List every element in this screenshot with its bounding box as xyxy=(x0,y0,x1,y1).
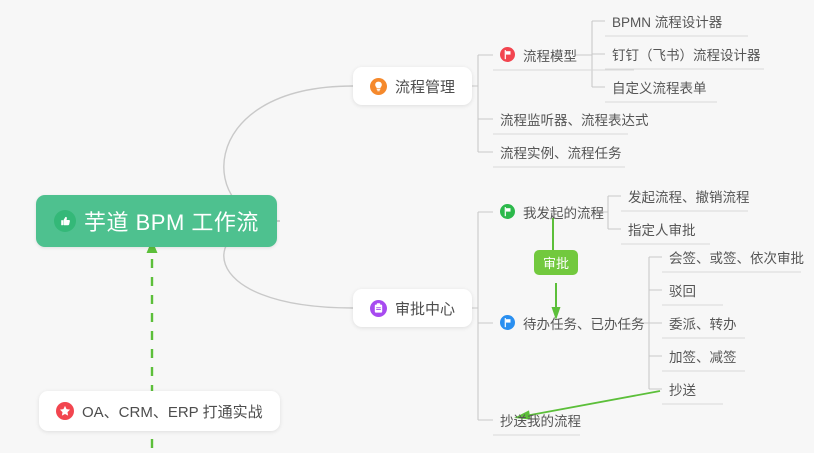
thumbs-up-icon xyxy=(54,210,76,232)
relation-label-approval[interactable]: 审批 xyxy=(534,250,578,275)
node-process-management[interactable]: 流程管理 xyxy=(353,67,472,105)
node-label: 流程实例、流程任务 xyxy=(500,142,622,162)
node-label: 发起流程、撤销流程 xyxy=(628,186,750,206)
flag-icon xyxy=(500,47,515,62)
node-cc[interactable]: 抄送 xyxy=(660,373,705,404)
node-cc-to-me-process[interactable]: 抄送我的流程 xyxy=(491,404,590,435)
node-label: 流程监听器、流程表达式 xyxy=(500,109,649,129)
node-label: 指定人审批 xyxy=(628,219,696,239)
node-label: 抄送我的流程 xyxy=(500,410,581,430)
node-label: 我发起的流程 xyxy=(523,202,604,222)
node-label: 流程管理 xyxy=(395,76,455,97)
node-process-instance-task[interactable]: 流程实例、流程任务 xyxy=(491,136,631,167)
node-label: 流程模型 xyxy=(523,45,577,65)
node-process-model[interactable]: 流程模型 xyxy=(491,39,586,70)
node-label: 抄送 xyxy=(669,379,696,399)
node-add-remove-sign[interactable]: 加签、减签 xyxy=(660,340,746,371)
node-custom-process-form[interactable]: 自定义流程表单 xyxy=(603,71,716,102)
node-label: 加签、减签 xyxy=(669,346,737,366)
node-label: 驳回 xyxy=(669,280,696,300)
node-reject[interactable]: 驳回 xyxy=(660,274,705,305)
node-label: OA、CRM、ERP 打通实战 xyxy=(82,401,263,422)
node-counter-or-sequential-sign[interactable]: 会签、或签、依次审批 xyxy=(660,241,813,272)
flag-icon xyxy=(500,204,515,219)
node-label: 钉钉（飞书）流程设计器 xyxy=(612,44,761,64)
root-label: 芋道 BPM 工作流 xyxy=(84,205,259,237)
node-label: 自定义流程表单 xyxy=(612,77,707,97)
star-icon xyxy=(56,402,74,420)
flag-icon xyxy=(500,315,515,330)
node-label: 待办任务、已办任务 xyxy=(523,313,645,333)
clipboard-icon xyxy=(370,300,387,317)
node-dingtalk-feishu-designer[interactable]: 钉钉（飞书）流程设计器 xyxy=(603,38,770,69)
mindmap-canvas: 芋道 BPM 工作流 流程管理 流程模型 BPMN 流程设计器 钉钉（飞书）流程 xyxy=(0,0,814,453)
node-assignee-approval[interactable]: 指定人审批 xyxy=(619,213,705,244)
node-bpmn-designer[interactable]: BPMN 流程设计器 xyxy=(603,5,731,36)
node-label: 委派、转办 xyxy=(669,313,737,333)
node-approval-center[interactable]: 审批中心 xyxy=(353,289,472,327)
node-todo-done-tasks[interactable]: 待办任务、已办任务 xyxy=(491,307,654,338)
node-label: 审批中心 xyxy=(395,298,455,319)
node-delegate-transfer[interactable]: 委派、转办 xyxy=(660,307,746,338)
node-my-initiated-process[interactable]: 我发起的流程 xyxy=(491,196,613,227)
relation-label-text: 审批 xyxy=(543,253,569,272)
node-oa-crm-erp[interactable]: OA、CRM、ERP 打通实战 xyxy=(39,391,280,431)
node-label: 会签、或签、依次审批 xyxy=(669,247,804,267)
root-node[interactable]: 芋道 BPM 工作流 xyxy=(36,195,277,247)
lightbulb-icon xyxy=(370,78,387,95)
node-label: BPMN 流程设计器 xyxy=(612,11,722,31)
node-start-cancel-process[interactable]: 发起流程、撤销流程 xyxy=(619,180,759,211)
node-process-listener-expression[interactable]: 流程监听器、流程表达式 xyxy=(491,103,658,134)
